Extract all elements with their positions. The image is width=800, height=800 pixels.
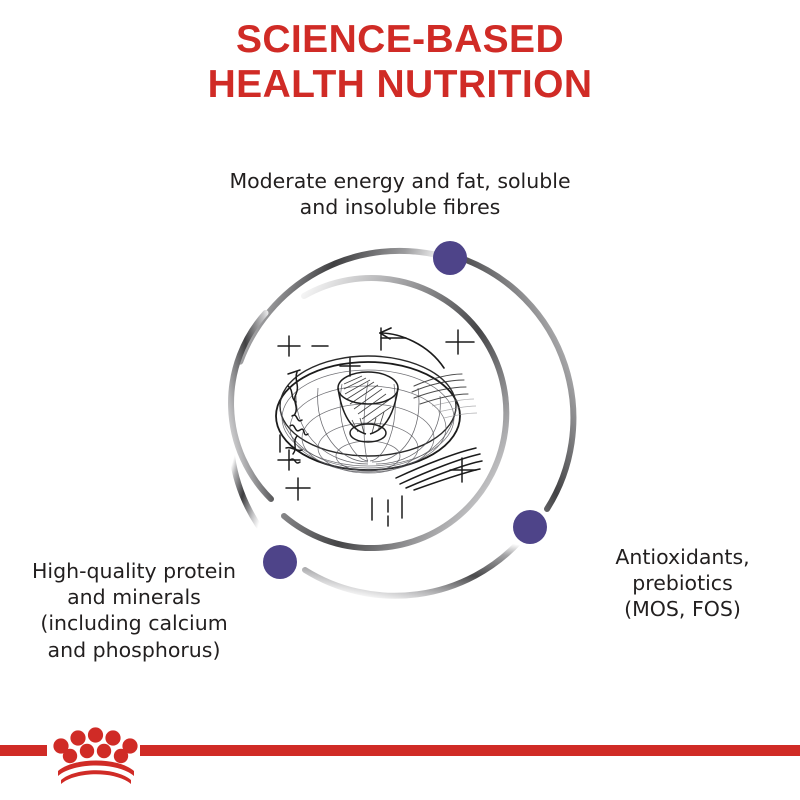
torus-kibble-sketch (276, 328, 482, 526)
diagram-node-bottom-left[interactable] (263, 545, 297, 579)
footer-rule-right (140, 745, 800, 756)
page-title: SCIENCE-BASED HEALTH NUTRITION (0, 18, 800, 108)
diagram-node-top[interactable] (433, 241, 467, 275)
royal-canin-crown-icon (53, 727, 137, 784)
inner-orbit-ring (231, 278, 506, 548)
footer-brand-bar (0, 700, 800, 800)
page-title-line-2: HEALTH NUTRITION (0, 63, 800, 108)
callout-antioxidants: Antioxidants, prebiotics (MOS, FOS) (575, 544, 790, 623)
kibble-diagram (200, 220, 600, 620)
footer-rule-left (0, 745, 47, 756)
poster-root: SCIENCE-BASED HEALTH NUTRITION (0, 0, 800, 800)
callout-moderate-energy: Moderate energy and fat, soluble and ins… (160, 168, 640, 220)
callout-high-quality-protein: High-quality protein and minerals (inclu… (8, 558, 260, 663)
page-title-line-1: SCIENCE-BASED (0, 18, 800, 63)
diagram-node-bottom-right[interactable] (513, 510, 547, 544)
